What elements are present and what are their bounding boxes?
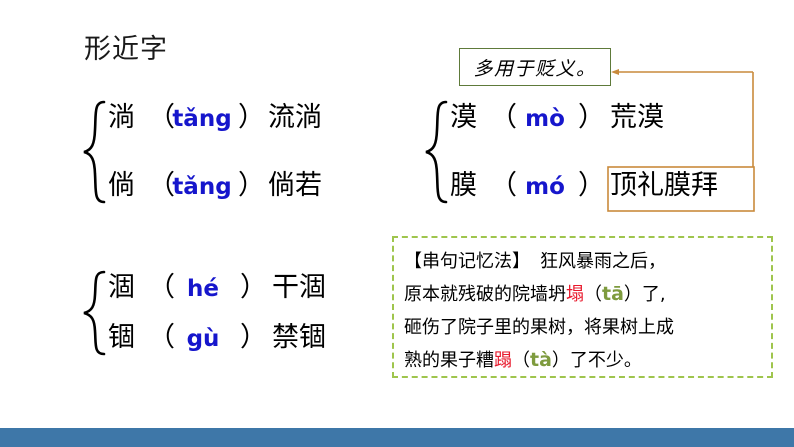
example-word: 倘若 bbox=[268, 168, 322, 204]
memory-line-1-text: 狂风暴雨之后， bbox=[540, 251, 666, 272]
memory-highlight-ta4-char: 蹋 bbox=[494, 350, 512, 371]
character-group-tang: 淌 （ tǎng ） 流淌 倘 （ tǎng ） 倘若 bbox=[82, 100, 322, 204]
memory-line-1: 【串句记忆法】狂风暴雨之后， bbox=[404, 245, 763, 278]
left-paren: （ bbox=[490, 168, 512, 204]
left-paren: （ bbox=[148, 168, 166, 204]
bottom-bar bbox=[0, 428, 794, 447]
right-paren: ） bbox=[240, 270, 272, 306]
character-group-he: 涸 （ hé ） 干涸 锢 （ gù ） 禁锢 bbox=[82, 270, 326, 356]
example-word: 干涸 bbox=[272, 270, 326, 306]
right-paren: ） bbox=[578, 100, 610, 136]
memory-line-2-text-b: 了, bbox=[642, 284, 666, 305]
pinyin-text: tǎng bbox=[166, 101, 238, 137]
memory-label: 【串句记忆法】 bbox=[404, 251, 530, 272]
memory-line-2-rparen: ） bbox=[624, 284, 642, 305]
example-word: 流淌 bbox=[268, 100, 322, 136]
usage-note-text: 多用于贬义。 bbox=[473, 54, 596, 81]
hanzi-char: 倘 bbox=[108, 168, 148, 204]
example-word: 荒漠 bbox=[610, 100, 664, 136]
character-rows: 淌 （ tǎng ） 流淌 倘 （ tǎng ） 倘若 bbox=[108, 100, 322, 204]
usage-note-box: 多用于贬义。 bbox=[459, 48, 611, 86]
left-paren: （ bbox=[148, 270, 166, 306]
callout-connector bbox=[0, 0, 794, 447]
curly-brace-icon bbox=[82, 270, 108, 356]
memory-highlight-ta-char: 塌 bbox=[566, 284, 584, 305]
hanzi-char: 涸 bbox=[108, 270, 148, 306]
pinyin-text: mò bbox=[512, 101, 578, 137]
character-rows: 漠 （ mò ） 荒漠 膜 （ mó ） 顶礼膜拜 bbox=[450, 100, 718, 204]
memory-line-2: 原本就残破的院墙坍塌（tā）了, bbox=[404, 278, 763, 311]
memory-line-4-lparen: （ bbox=[512, 350, 530, 371]
character-row: 涸 （ hé ） 干涸 bbox=[108, 270, 326, 306]
memory-line-4-text-b: 了不少。 bbox=[570, 350, 642, 371]
memory-method-box: 【串句记忆法】狂风暴雨之后， 原本就残破的院墙坍塌（tā）了, 砸伤了院子里的果… bbox=[392, 236, 773, 378]
character-row: 漠 （ mò ） 荒漠 bbox=[450, 100, 718, 136]
left-paren: （ bbox=[490, 100, 512, 136]
character-rows: 涸 （ hé ） 干涸 锢 （ gù ） 禁锢 bbox=[108, 270, 326, 356]
right-paren: ） bbox=[240, 320, 272, 356]
curly-brace-icon bbox=[82, 100, 108, 204]
memory-line-3: 砸伤了院子里的果树，将果树上成 bbox=[404, 311, 763, 344]
pinyin-text: hé bbox=[166, 271, 240, 307]
character-row: 锢 （ gù ） 禁锢 bbox=[108, 320, 326, 356]
pinyin-text: mó bbox=[512, 169, 578, 205]
slide-canvas: 形近字 淌 （ tǎng ） 流淌 倘 （ tǎng ） 倘若 bbox=[0, 0, 794, 447]
hanzi-char: 锢 bbox=[108, 320, 148, 356]
memory-line-4-text-a: 熟的果子糟 bbox=[404, 350, 494, 371]
right-paren: ） bbox=[238, 168, 268, 204]
page-title: 形近字 bbox=[84, 36, 168, 63]
left-paren: （ bbox=[148, 100, 166, 136]
example-word-highlighted: 顶礼膜拜 bbox=[610, 168, 718, 204]
memory-line-4-rparen: ） bbox=[552, 350, 570, 371]
example-word: 禁锢 bbox=[272, 320, 326, 356]
memory-line-4: 熟的果子糟蹋（tà）了不少。 bbox=[404, 344, 763, 377]
hanzi-char: 漠 bbox=[450, 100, 490, 136]
right-paren: ） bbox=[578, 168, 610, 204]
memory-pinyin-ta1: tā bbox=[602, 283, 624, 305]
memory-line-2-text-a: 原本就残破的院墙坍 bbox=[404, 284, 566, 305]
character-group-mo: 漠 （ mò ） 荒漠 膜 （ mó ） 顶礼膜拜 bbox=[424, 100, 718, 204]
hanzi-char: 淌 bbox=[108, 100, 148, 136]
character-row: 淌 （ tǎng ） 流淌 bbox=[108, 100, 322, 136]
left-paren: （ bbox=[148, 320, 166, 356]
character-row: 膜 （ mó ） 顶礼膜拜 bbox=[450, 168, 718, 204]
character-row: 倘 （ tǎng ） 倘若 bbox=[108, 168, 322, 204]
memory-line-2-lparen: （ bbox=[584, 284, 602, 305]
memory-pinyin-ta4: tà bbox=[530, 349, 552, 371]
pinyin-text: tǎng bbox=[166, 169, 238, 205]
right-paren: ） bbox=[238, 100, 268, 136]
hanzi-char: 膜 bbox=[450, 168, 490, 204]
pinyin-text: gù bbox=[166, 321, 240, 357]
curly-brace-icon bbox=[424, 100, 450, 204]
